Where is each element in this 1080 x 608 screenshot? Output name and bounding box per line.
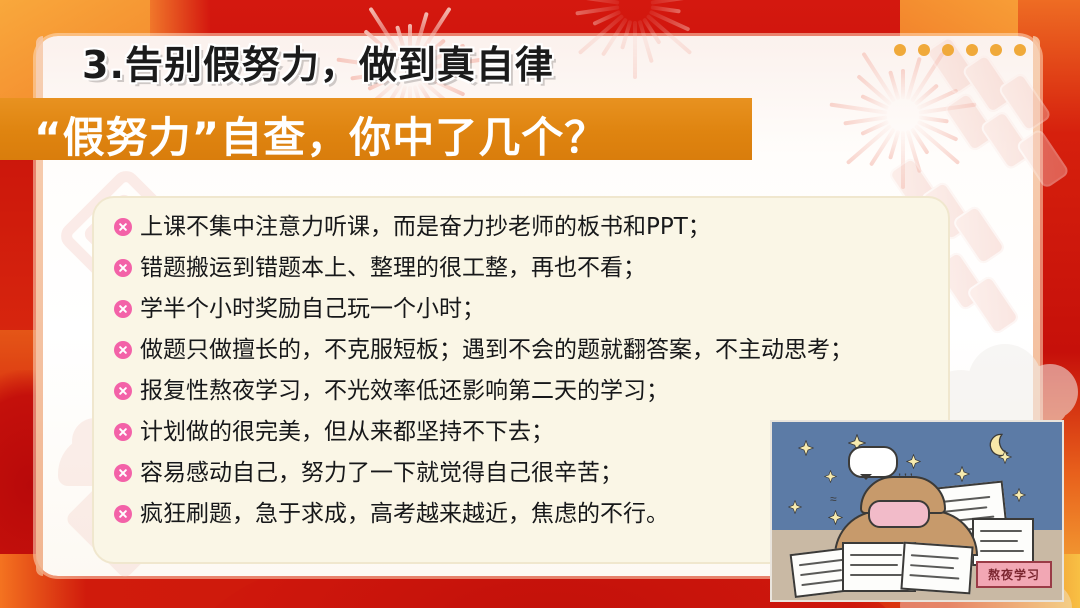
star-icon <box>828 510 843 525</box>
star-icon <box>788 500 802 514</box>
cross-circle-icon <box>114 382 132 400</box>
star-icon <box>798 440 814 456</box>
thought-bubble <box>848 446 898 478</box>
sleep-marks: ≈ <box>830 492 837 506</box>
checklist-item-text: 学半个小时奖励自己玩一个小时； <box>140 292 485 326</box>
decorative-dots <box>894 44 1026 56</box>
paper-sheet <box>972 518 1034 566</box>
checklist-item-text: 上课不集中注意力听课，而是奋力抄老师的板书和PPT； <box>140 210 711 244</box>
cross-circle-icon <box>114 423 132 441</box>
checklist-item-text: 报复性熬夜学习，不光效率低还影响第二天的学习； <box>140 374 669 408</box>
checklist-item: 做题只做擅长的，不克服短板；遇到不会的题就翻答案，不主动思考； <box>114 333 940 367</box>
checklist-item-text: 做题只做擅长的，不克服短板；遇到不会的题就翻答案，不主动思考； <box>140 333 853 367</box>
decorative-dot <box>1014 44 1026 56</box>
checklist-item: 错题搬运到错题本上、整理的很工整，再也不看； <box>114 251 940 285</box>
checklist-item: 报复性熬夜学习，不光效率低还影响第二天的学习； <box>114 374 940 408</box>
checklist-item-text: 容易感动自己，努力了一下就觉得自己很辛苦； <box>140 456 623 490</box>
star-icon <box>998 450 1012 464</box>
illustration-night-study: ’’’ ≈ 熬夜学习 <box>770 420 1064 602</box>
star-icon <box>1012 488 1026 502</box>
checklist-item: 上课不集中注意力听课，而是奋力抄老师的板书和PPT； <box>114 210 940 244</box>
decorative-dot <box>918 44 930 56</box>
decorative-dot <box>966 44 978 56</box>
decorative-dot <box>894 44 906 56</box>
cross-circle-icon <box>114 464 132 482</box>
star-icon <box>824 470 837 483</box>
decorative-dot <box>942 44 954 56</box>
checklist-item: 学半个小时奖励自己玩一个小时； <box>114 292 940 326</box>
cross-circle-icon <box>114 259 132 277</box>
slide-canvas: 福 3.告别假努力，做到真自律 “假努力”自查，你中了几个？ 上课不集中注意力听… <box>0 0 1080 608</box>
page-title: 3.告别假努力，做到真自律 <box>82 34 554 89</box>
cross-circle-icon <box>114 505 132 523</box>
subtitle-text: “假努力”自查，你中了几个？ <box>34 104 607 165</box>
cross-circle-icon <box>114 300 132 318</box>
decorative-dot <box>990 44 1002 56</box>
subtitle-banner: “假努力”自查，你中了几个？ <box>0 98 752 160</box>
checklist-item-text: 疯狂刷题，急于求成，高考越来越近，焦虑的不行。 <box>140 497 669 531</box>
star-icon <box>906 454 921 469</box>
illustration-caption: 熬夜学习 <box>976 561 1052 588</box>
cross-circle-icon <box>114 218 132 236</box>
paper-sheet <box>900 542 973 595</box>
cross-circle-icon <box>114 341 132 359</box>
student-face <box>868 500 930 528</box>
checklist-item-text: 计划做的很完美，但从来都坚持不下去； <box>140 415 554 449</box>
star-icon <box>954 466 970 482</box>
checklist-item-text: 错题搬运到错题本上、整理的很工整，再也不看； <box>140 251 646 285</box>
